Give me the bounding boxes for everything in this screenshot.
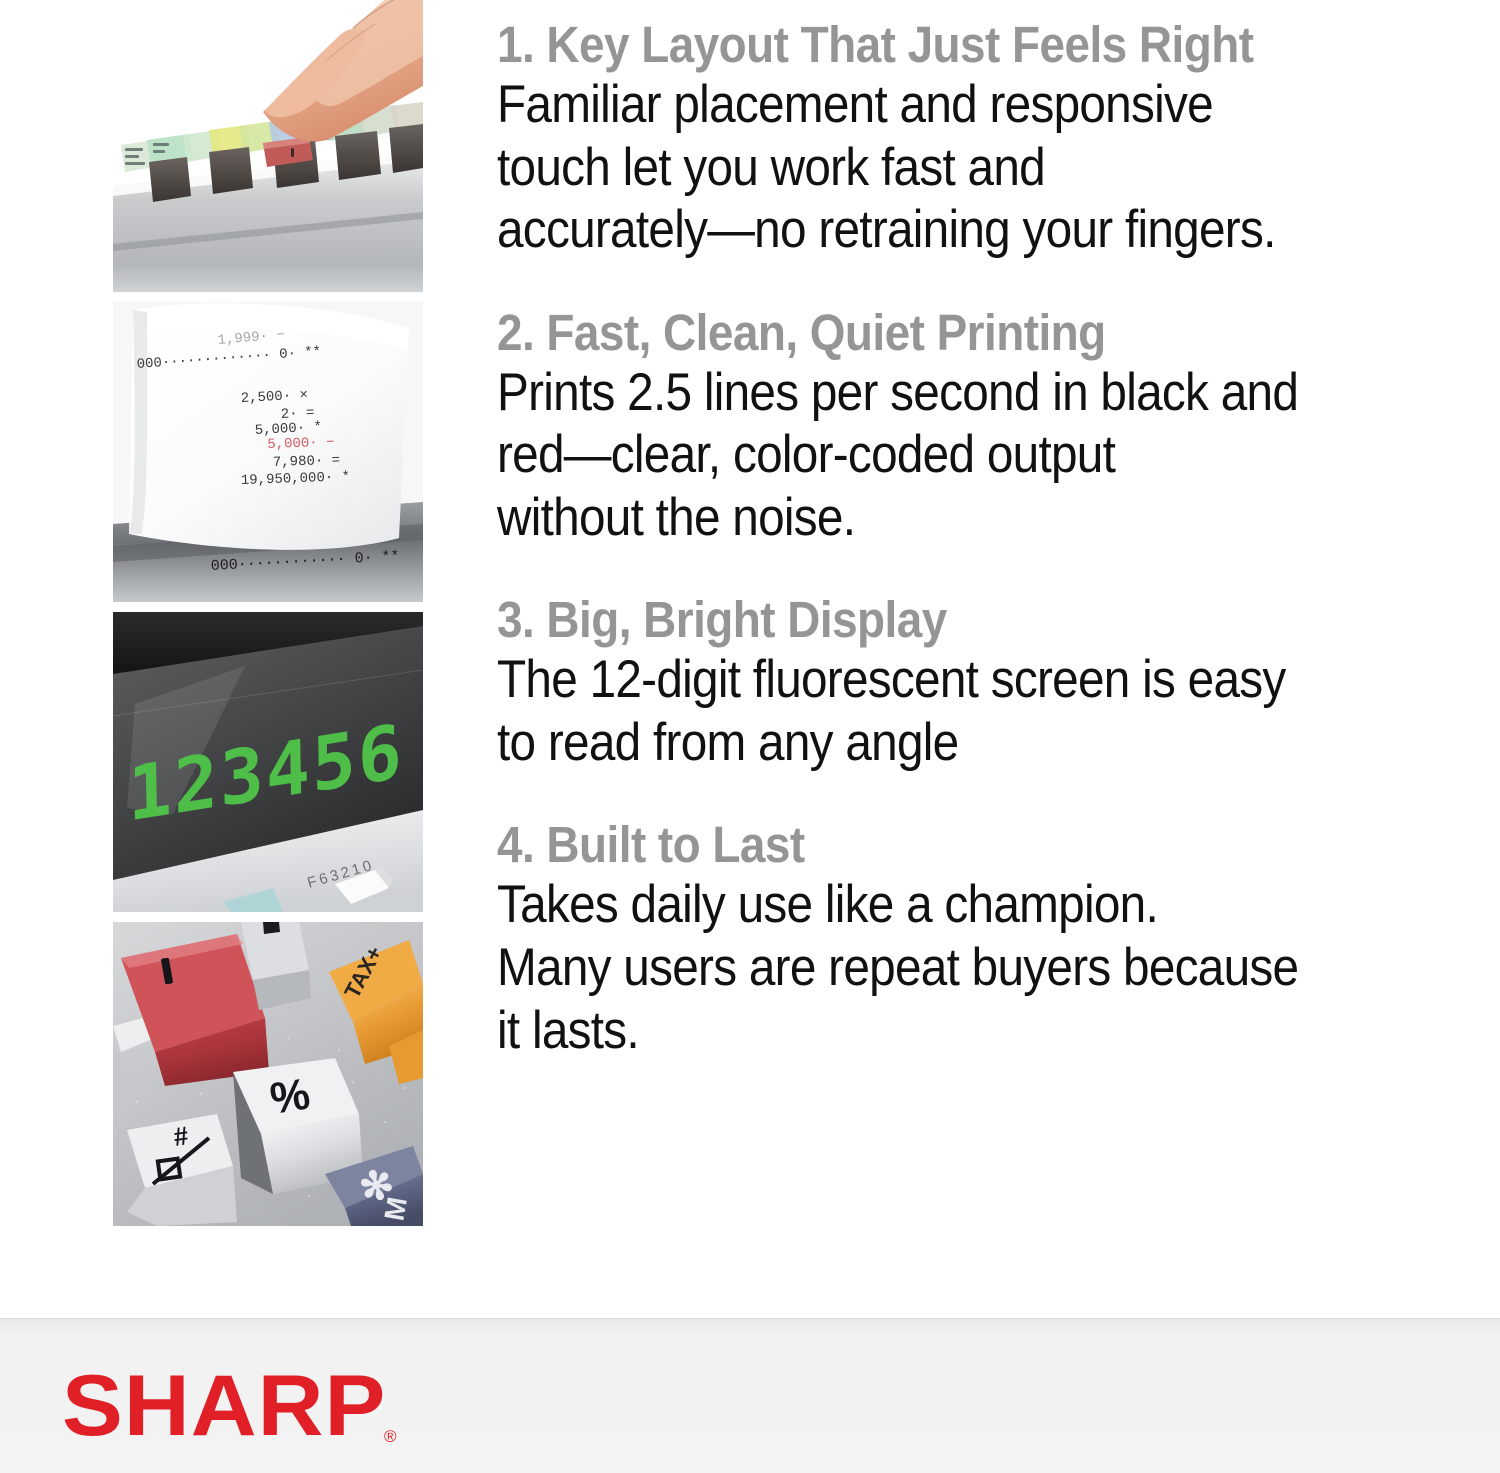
feature-item-1: 1. Key Layout That Just Feels Right Fami… [497, 18, 1487, 262]
photo-receipt-tape: 1,999· − 000············· 0· ** 2,500· ×… [113, 302, 423, 602]
feature-item-2: 2. Fast, Clean, Quiet Printing Prints 2.… [497, 306, 1487, 550]
feature-heading-3: 3. Big, Bright Display [497, 593, 1388, 647]
feature-body-2-line-3: without the noise. [497, 487, 1486, 550]
feature-body-1-line-2: touch let you work fast and [497, 137, 1486, 200]
feature-heading-1: 1. Key Layout That Just Feels Right [497, 18, 1388, 72]
svg-text:7,980· =: 7,980· = [273, 453, 341, 471]
feature-body-4-line-3: it lasts. [497, 1000, 1486, 1063]
feature-list: 1. Key Layout That Just Feels Right Fami… [497, 18, 1487, 1062]
feature-body-1: Familiar placement and responsive touch … [497, 74, 1486, 262]
photo-strip: 1,999· − 000············· 0· ** 2,500· ×… [113, 0, 423, 1226]
svg-text:%: % [267, 1069, 313, 1124]
feature-body-3-line-2: to read from any angle [497, 712, 1486, 775]
feature-body-4: Takes daily use like a champion. Many us… [497, 874, 1486, 1062]
footer-band: SHARP ® [0, 1318, 1500, 1473]
feature-body-2: Prints 2.5 lines per second in black and… [497, 362, 1486, 550]
feature-body-4-line-2: Many users are repeat buyers because [497, 937, 1486, 1000]
feature-item-3: 3. Big, Bright Display The 12-digit fluo… [497, 593, 1487, 774]
product-feature-panel: 1,999· − 000············· 0· ** 2,500· ×… [0, 0, 1500, 1473]
feature-heading-4: 4. Built to Last [497, 818, 1388, 872]
photo-fluorescent-display: 123456 7890 F63210 [113, 612, 423, 912]
photo-keys-closeup: TAX+ % # [113, 922, 423, 1226]
feature-body-1-line-1: Familiar placement and responsive [497, 74, 1486, 137]
photo-keys-press [113, 0, 423, 292]
sharp-logo: SHARP ® [62, 1363, 397, 1449]
feature-body-1-line-3: accurately—no retraining your fingers. [497, 199, 1486, 262]
sharp-wordmark: SHARP [62, 1363, 386, 1449]
svg-text:5,000· −: 5,000· − [267, 435, 335, 453]
feature-body-2-line-2: red—clear, color-coded output [497, 424, 1486, 487]
feature-heading-2: 2. Fast, Clean, Quiet Printing [497, 306, 1388, 360]
feature-body-2-line-1: Prints 2.5 lines per second in black and [497, 362, 1486, 425]
feature-body-3-line-1: The 12-digit fluorescent screen is easy [497, 649, 1486, 712]
feature-body-3: The 12-digit fluorescent screen is easy … [497, 649, 1486, 774]
feature-body-4-line-1: Takes daily use like a champion. [497, 874, 1486, 937]
feature-item-4: 4. Built to Last Takes daily use like a … [497, 818, 1487, 1062]
